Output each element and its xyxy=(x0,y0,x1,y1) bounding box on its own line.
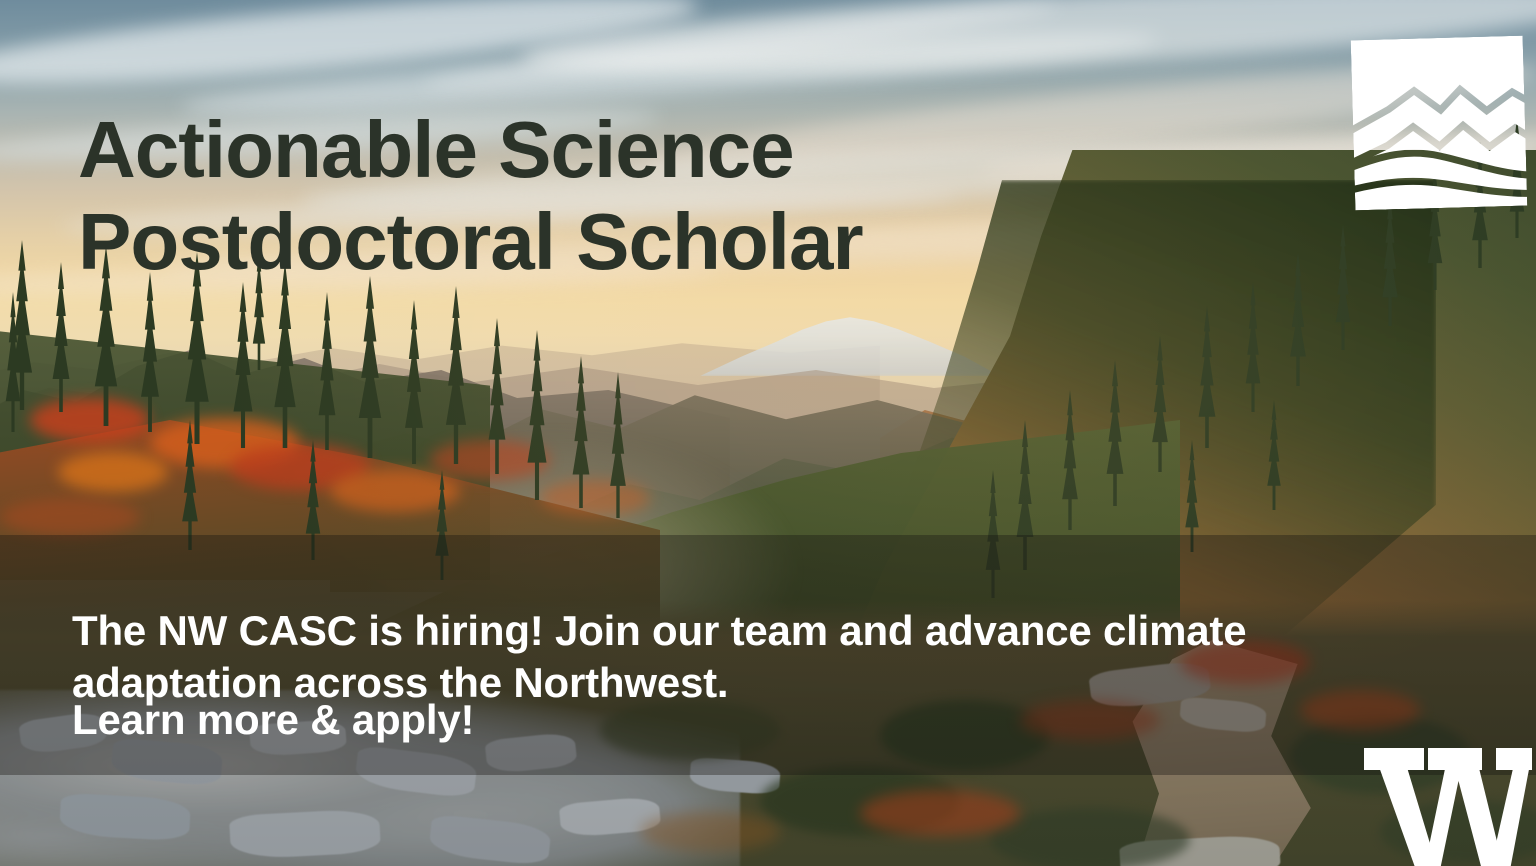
autumn-foliage xyxy=(860,790,1020,836)
learn-more-apply-link[interactable]: Learn more & apply! xyxy=(72,695,474,745)
page-title: Actionable Science Postdoctoral Scholar xyxy=(78,104,1308,290)
autumn-foliage xyxy=(30,398,150,442)
autumn-foliage xyxy=(640,812,780,852)
autumn-foliage xyxy=(58,452,168,492)
poster-banner: Actionable Science Postdoctoral Scholar … xyxy=(0,0,1536,866)
shrub xyxy=(880,700,1050,770)
body-copy: The NW CASC is hiring! Join our team and… xyxy=(72,605,1362,709)
university-of-washington-w-logo[interactable] xyxy=(1362,744,1534,866)
nw-casc-logo[interactable] xyxy=(1351,36,1528,211)
autumn-foliage xyxy=(540,480,650,516)
autumn-foliage xyxy=(0,498,140,536)
shrub xyxy=(990,808,1190,866)
